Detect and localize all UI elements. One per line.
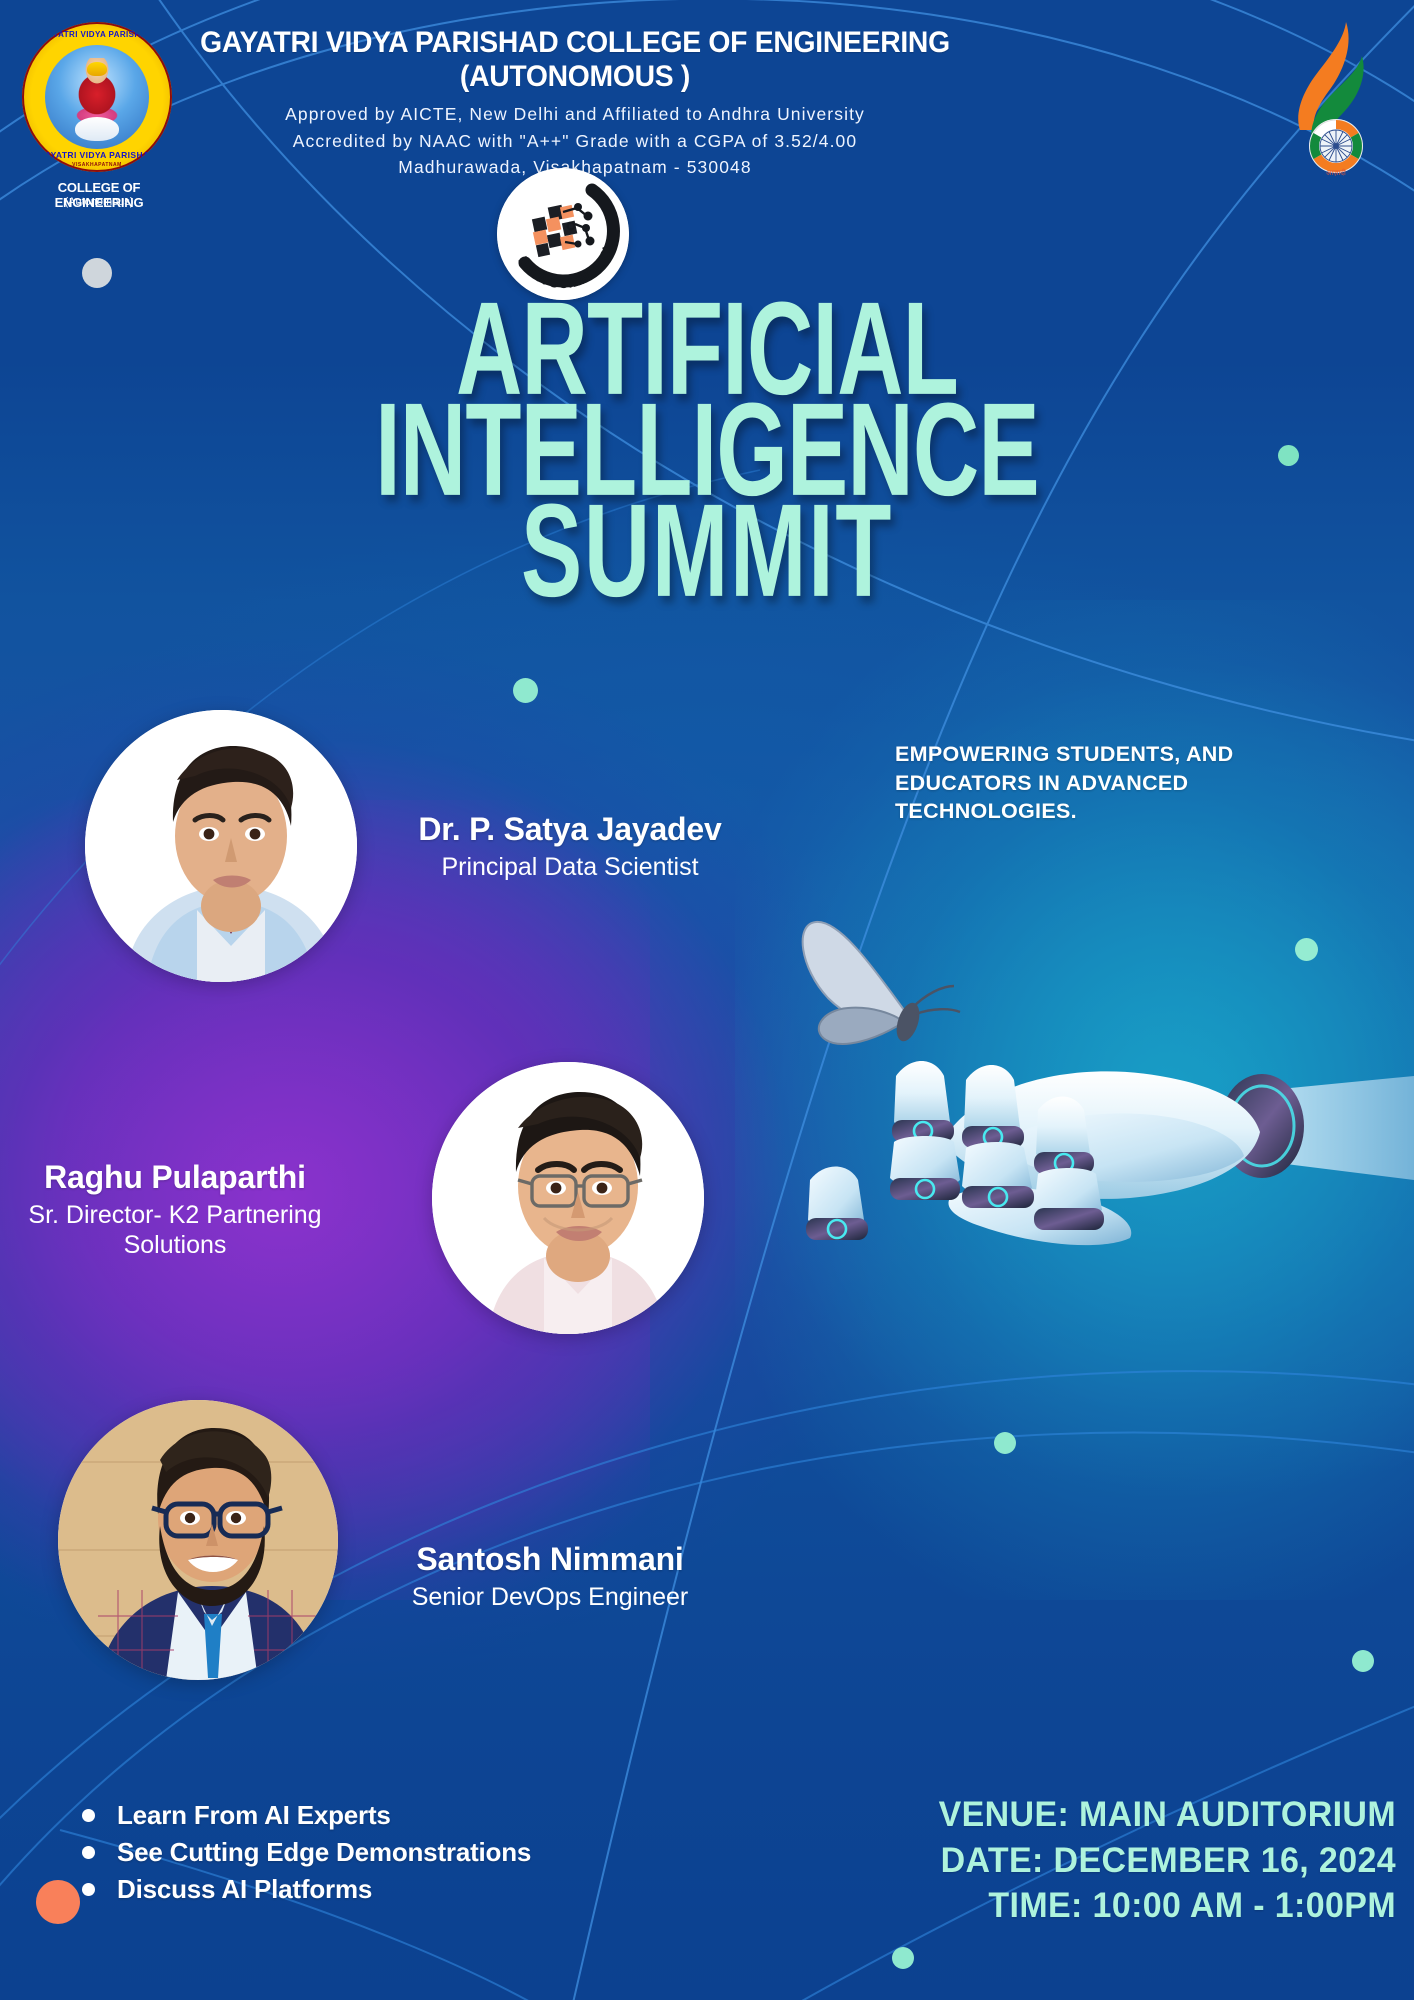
azadi-ka-amrit-mahotsav-icon: आज़ादी bbox=[1284, 18, 1394, 178]
decor-dot-gray-left bbox=[82, 258, 112, 288]
robotic-hand-with-butterfly-illustration bbox=[800, 880, 1414, 1350]
event-date: DATE: DECEMBER 16, 2024 bbox=[795, 1838, 1396, 1884]
seal-top-text: GAYATRI VIDYA PARISHAD bbox=[22, 30, 172, 39]
decor-dot-mint-lower bbox=[994, 1432, 1016, 1454]
poster-root: GAYATRI VIDYA PARISHAD GAYATRI VIDYA PAR… bbox=[0, 0, 1414, 2000]
speaker-photo-2 bbox=[432, 1062, 704, 1334]
decor-dot-mint-right-low bbox=[1352, 1650, 1374, 1672]
highlights-list: Learn From AI Experts See Cutting Edge D… bbox=[82, 1800, 682, 1911]
college-seal-logo: GAYATRI VIDYA PARISHAD GAYATRI VIDYA PAR… bbox=[22, 22, 172, 172]
highlight-label-2: See Cutting Edge Demonstrations bbox=[117, 1837, 531, 1868]
event-time: TIME: 10:00 AM - 1:00PM bbox=[795, 1883, 1396, 1929]
seal-city-text: VISAKHAPATNAM bbox=[22, 162, 172, 168]
speaker-name-2: Raghu Pulaparthi bbox=[0, 1160, 350, 1196]
speaker-photo-1 bbox=[85, 710, 357, 982]
speaker-info-1: Dr. P. Satya Jayadev Principal Data Scie… bbox=[360, 812, 780, 882]
swan-icon bbox=[75, 117, 119, 141]
speaker-role-3: Senior DevOps Engineer bbox=[340, 1582, 760, 1612]
speaker-info-3: Santosh Nimmani Senior DevOps Engineer bbox=[340, 1542, 760, 1612]
bullet-dot-icon bbox=[82, 1809, 95, 1822]
speaker-photo-3 bbox=[58, 1400, 338, 1680]
list-item: See Cutting Edge Demonstrations bbox=[82, 1837, 682, 1868]
header-text-block: GAYATRI VIDYA PARISHAD COLLEGE OF ENGINE… bbox=[175, 26, 975, 181]
speaker-name-3: Santosh Nimmani bbox=[340, 1542, 760, 1578]
event-details-block: VENUE: MAIN AUDITORIUM DATE: DECEMBER 16… bbox=[776, 1792, 1396, 1929]
list-item: Discuss AI Platforms bbox=[82, 1874, 682, 1905]
institution-name-line2: (AUTONOMOUS ) bbox=[191, 60, 959, 94]
speaker-name-1: Dr. P. Satya Jayadev bbox=[360, 812, 780, 848]
speaker-role-1: Principal Data Scientist bbox=[360, 852, 780, 882]
seal-ring: GAYATRI VIDYA PARISHAD GAYATRI VIDYA PAR… bbox=[22, 22, 172, 172]
college-logo-caption-line2: (Autonomous) bbox=[14, 196, 184, 208]
decor-dot-mint-bottom bbox=[892, 1947, 914, 1969]
decor-dot-orange bbox=[36, 1880, 80, 1924]
speaker-role-2-line2: Solutions bbox=[0, 1230, 350, 1260]
data-science-club-logo: DATA SCIENCE CLUB bbox=[497, 168, 629, 300]
event-tagline: EMPOWERING STUDENTS, AND EDUCATORS IN AD… bbox=[895, 740, 1365, 826]
institution-name-line1: GAYATRI VIDYA PARISHAD COLLEGE OF ENGINE… bbox=[191, 26, 959, 60]
event-venue: VENUE: MAIN AUDITORIUM bbox=[795, 1792, 1396, 1838]
highlight-label-3: Discuss AI Platforms bbox=[117, 1874, 372, 1905]
seal-bottom-text: GAYATRI VIDYA PARISHAD bbox=[22, 150, 172, 160]
poster-header: GAYATRI VIDYA PARISHAD GAYATRI VIDYA PAR… bbox=[0, 0, 1414, 210]
accreditation-line2: Accredited by NAAC with "A++" Grade with… bbox=[175, 128, 975, 155]
list-item: Learn From AI Experts bbox=[82, 1800, 682, 1831]
bullet-dot-icon bbox=[82, 1846, 95, 1859]
speaker-info-2: Raghu Pulaparthi Sr. Director- K2 Partne… bbox=[0, 1160, 350, 1260]
decor-dot-mint-topright bbox=[1278, 445, 1299, 466]
decor-dot-mint-title bbox=[513, 678, 538, 703]
seal-emblem bbox=[45, 45, 149, 149]
highlight-label-1: Learn From AI Experts bbox=[117, 1800, 391, 1831]
butterfly-icon bbox=[803, 922, 960, 1044]
speaker-role-2-line1: Sr. Director- K2 Partnering bbox=[0, 1200, 350, 1230]
accreditation-line1: Approved by AICTE, New Delhi and Affilia… bbox=[175, 101, 975, 128]
bullet-dot-icon bbox=[82, 1883, 95, 1896]
svg-text:आज़ादी: आज़ादी bbox=[1326, 168, 1346, 177]
